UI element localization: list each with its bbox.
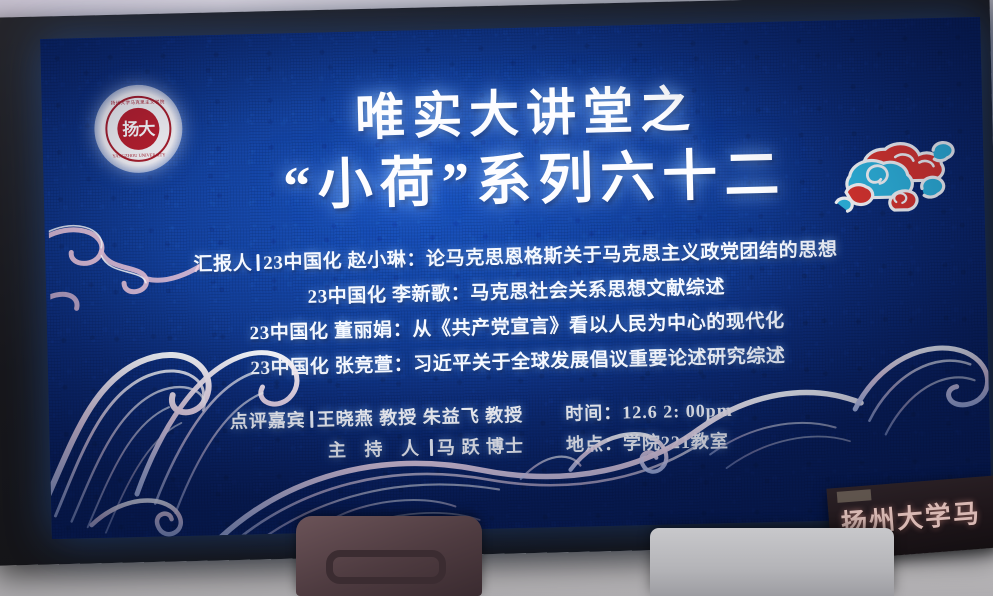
photograph-of-lecture-hall-screen: 扬州大学马克思主义学院 扬大 YANGZHOU UNIVERSITY 唯实大讲堂… <box>0 0 993 596</box>
screen-vignette <box>40 17 992 539</box>
chair-handle-slot <box>326 550 446 584</box>
laptop-lid <box>650 528 894 596</box>
chair-backrest <box>296 516 482 596</box>
led-display-screen: 扬州大学马克思主义学院 扬大 YANGZHOU UNIVERSITY 唯实大讲堂… <box>40 17 992 539</box>
